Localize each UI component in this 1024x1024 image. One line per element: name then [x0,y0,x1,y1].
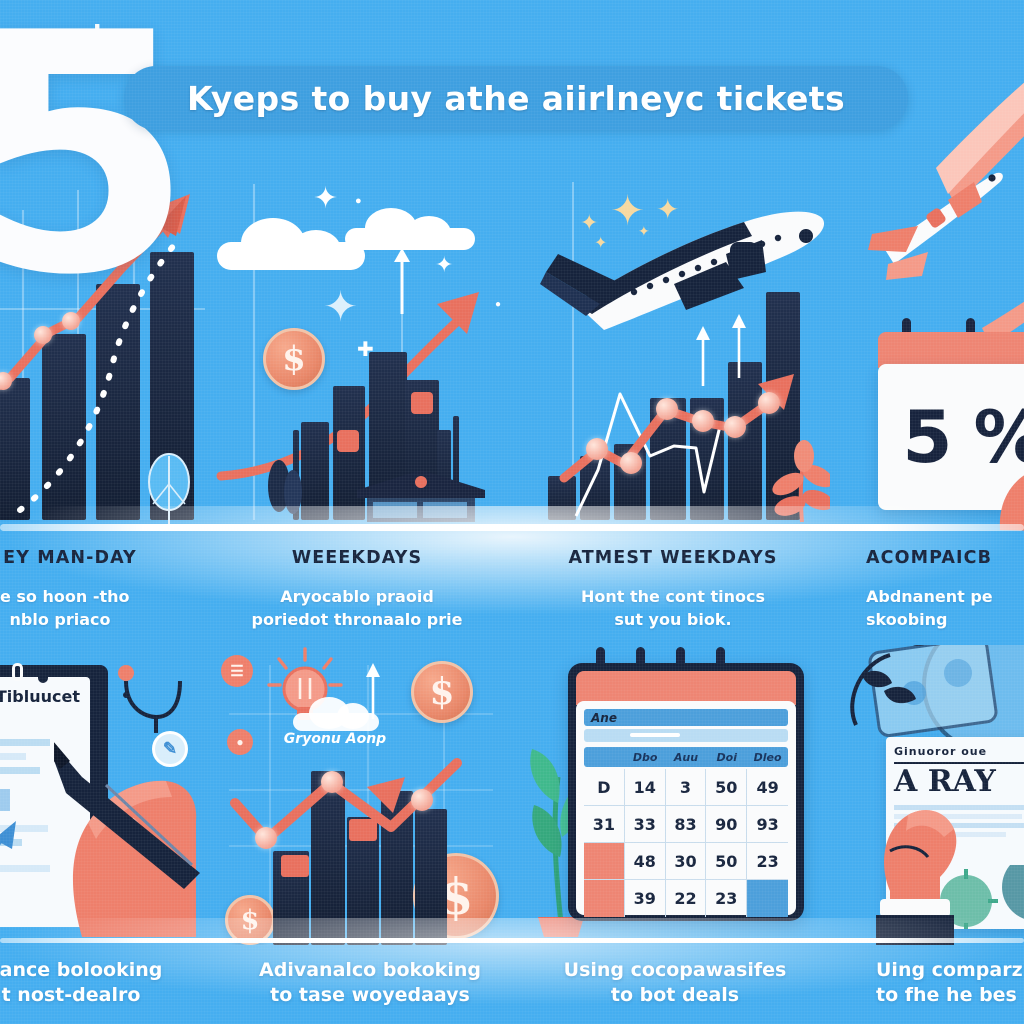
calendar-cell[interactable]: D [584,769,625,806]
zigzag-arrow [219,741,489,871]
calendar-cell[interactable]: 49 [747,769,788,806]
section-heading-4: ACOMPAICB [866,548,1024,568]
data-point [255,827,277,849]
data-point [656,398,678,420]
calendar-cell[interactable]: 33 [625,806,666,843]
calendar-month-bar: Ane [584,709,788,726]
cloud-icon [217,216,365,268]
data-point [620,452,642,474]
newspaper-kicker: Ginuoror oue [894,745,1024,758]
calendar-cell[interactable]: 83 [666,806,707,843]
infographic-canvas: 5 ✦ ✦ ✚ [0,0,1024,1024]
section-subtitle-2: Aryocablo praoid poriedot thronaalo prie [222,586,492,631]
calendar-month-label: Ane [591,711,617,725]
calendar-cell[interactable]: 22 [666,880,707,917]
calendar-cell-highlighted[interactable] [584,843,625,880]
sparkle-icon: ● [355,196,362,207]
section-heading-1: EY MAN-DAY [0,548,170,568]
calendar-day-header-row: Dbo Auu Doi Dleo [584,747,788,767]
calendar-cell[interactable]: 50 [706,769,747,806]
calendar-day-header: Dbo [625,747,666,767]
calendar-cell-selected[interactable] [747,880,788,917]
calendar-day-header [584,747,625,767]
badge-icon: ✎ [152,731,188,767]
dollar-coin-icon: $ [411,661,473,723]
discount-card-top [878,332,1024,368]
clipboard-label: Tibluucet [0,687,80,706]
calendar-cell-highlighted[interactable] [584,880,625,917]
bottom-panel-1: Tibluucet [0,645,215,945]
calendar-cell[interactable]: 3 [666,769,707,806]
building [301,422,329,520]
bottom-panel-3: Ane Dbo Auu Doi Dleo D 14 3 50 49 31 [512,645,830,945]
bottom-caption-1: inance bolooking t nost-dealro [0,958,186,1009]
section-heading-2: WEEEKDAYS [222,548,492,568]
big-number-five: 5 [0,0,194,317]
hand-icon [994,458,1024,532]
cloud-icon [345,208,475,250]
calendar-cell[interactable]: 30 [666,843,707,880]
bottom-caption-3: Using cocopawasifes to bot deals [540,958,810,1009]
plant-icon [770,438,830,524]
calendar-cell[interactable]: 23 [747,843,788,880]
calendar-header-band [576,671,796,705]
data-point [692,410,714,432]
calendar-cell[interactable]: 48 [625,843,666,880]
calendar-cell[interactable]: 90 [706,806,747,843]
section-heading-3: ATMEST WEEKDAYS [528,548,818,568]
page-title: Kyeps to buy athe aiirlneyc tickets [187,79,845,118]
ground-line [0,524,1024,531]
up-arrow-icon [391,246,413,316]
calendar-day-header: Doi [706,747,747,767]
calendar-page: Ane Dbo Auu Doi Dleo D 14 3 50 49 31 [576,701,796,915]
airport-terminal-icon [353,468,489,524]
data-point [724,416,746,438]
data-point [411,789,433,811]
calendar-day-header: Auu [666,747,707,767]
clipboard-rings [0,663,90,681]
calendar-cell[interactable]: 23 [706,880,747,917]
data-point [586,438,608,460]
sign-icon [411,392,433,414]
bottom-caption-2: Adivanalco bokoking to tase woyedaays [240,958,500,1009]
title-banner: Kyeps to buy athe aiirlneyc tickets [124,66,908,130]
sign-icon [337,430,359,452]
hand-icon [854,781,974,945]
section-subtitle-4: Abdnanent pe skoobing [866,586,1024,631]
ground-line [0,938,1024,943]
section-subtitle-1: ce so hoon -tho nblo priaco [0,586,160,631]
sparkle-icon: ✦ [435,254,453,276]
plant-icon [140,448,198,528]
up-arrow-icon [365,661,381,721]
calendar-cell[interactable]: 14 [625,769,666,806]
sparkle-icon: ✦ [313,184,338,214]
calendar-cell[interactable]: 31 [584,806,625,843]
data-point [321,771,343,793]
section-subtitle-3: Hont the cont tinocs sut you biok. [528,586,818,631]
calendar-subbar [584,729,788,742]
bottom-caption-4: Uing comparz to fhe he bes [876,958,1024,1009]
bottom-panel-4: Ginuoror oue A RAY [830,645,1024,945]
data-point [758,392,780,414]
bottom-panel-2: ☰ ● Gryonu Aonp $ $ $ [215,645,512,945]
calendar-cell[interactable]: 39 [625,880,666,917]
calendar-grid: D 14 3 50 49 31 33 83 90 93 48 30 50 23 … [584,769,788,917]
tree-icon [263,448,305,522]
calendar-cell[interactable]: 93 [747,806,788,843]
badge-icon: ☰ [221,655,253,687]
calendar-day-header: Dleo [747,747,788,767]
calendar-cell[interactable]: 50 [706,843,747,880]
